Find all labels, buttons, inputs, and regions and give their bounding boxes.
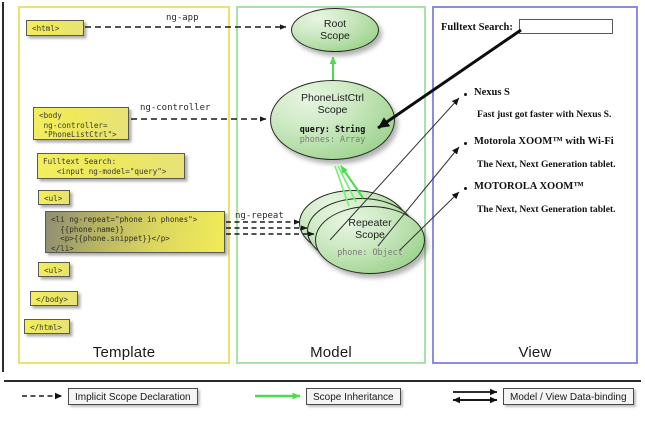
repeater-field-phone: phone: Object: [316, 247, 424, 257]
view-search-label: Fulltext Search:: [441, 22, 513, 33]
view-item-title-1: Motorola XOOM™ with Wi-Fi: [474, 136, 614, 147]
phonelistctrl-scope-title: PhoneListCtrl Scope: [271, 81, 394, 116]
panel-label-template: Template: [18, 344, 230, 361]
view-item-desc-1: The Next, Next Generation tablet.: [477, 159, 616, 170]
legend-separator: [4, 380, 641, 382]
diagram-canvas: <html> <body ng-controller= "PhoneListCt…: [0, 0, 645, 425]
code-box-ul-open: <ul>: [38, 190, 70, 205]
legend-model-view-data-binding: Model / View Data-binding: [503, 388, 634, 405]
root-scope: Root Scope: [291, 8, 379, 52]
repeater-scope: Repeater Scope phone: Object: [315, 206, 425, 274]
code-box-html-open: <html>: [26, 20, 84, 36]
view-search-input[interactable]: [519, 19, 613, 34]
view-item-desc-0: Fast just got faster with Nexus S.: [477, 109, 611, 120]
code-box-html-close: </html>: [24, 319, 70, 334]
phonelistctrl-scope: PhoneListCtrl Scope query: String phones…: [270, 80, 395, 160]
panel-label-view: View: [432, 344, 638, 361]
repeater-scope-title: Repeater Scope: [316, 207, 424, 241]
code-box-body-open: <body ng-controller= "PhoneListCtrl">: [33, 107, 129, 140]
wire-label-ng-controller: ng-controller: [140, 103, 210, 113]
panel-template: [18, 6, 230, 364]
legend-scope-inheritance: Scope Inheritance: [306, 388, 401, 405]
legend-implicit-scope-declaration: Implicit Scope Declaration: [68, 388, 198, 405]
panel-model: [236, 6, 426, 364]
code-box-li-repeat: <li ng-repeat="phone in phones"> {{phone…: [45, 211, 225, 253]
panel-label-model: Model: [236, 344, 426, 361]
wire-label-ng-app: ng-app: [166, 13, 199, 23]
root-scope-title: Root Scope: [292, 9, 378, 42]
code-box-ul-close: <ul>: [38, 262, 70, 277]
phonelistctrl-field-phones: phones: Array: [271, 134, 394, 144]
phonelistctrl-field-query: query: String: [271, 124, 394, 134]
legend-arrow-databinding: [453, 392, 497, 400]
view-item-desc-2: The Next, Next Generation tablet.: [477, 204, 616, 215]
code-box-search: Fulltext Search: <input ng-model="query"…: [37, 153, 185, 179]
view-item-title-2: MOTOROLA XOOM™: [474, 181, 584, 192]
view-item-title-0: Nexus S: [474, 87, 510, 98]
wire-label-ng-repeat: ng-repeat: [235, 211, 284, 221]
code-box-body-close: </body>: [30, 291, 78, 306]
